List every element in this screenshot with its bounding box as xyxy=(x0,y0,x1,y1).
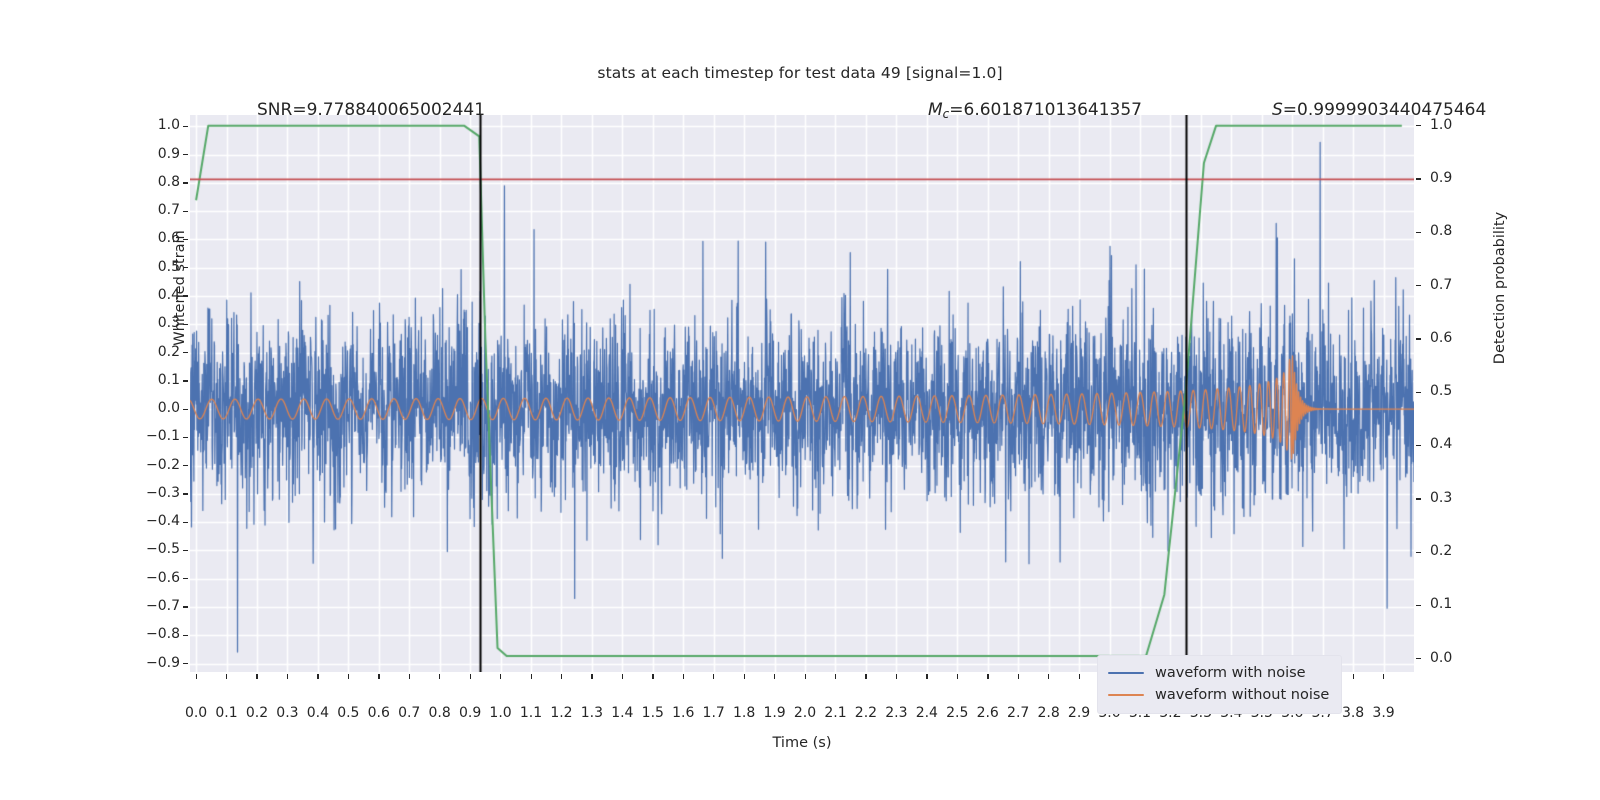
axis-tick-label: 0.2 xyxy=(1430,543,1486,559)
axis-tick-mark xyxy=(865,674,866,679)
axis-tick-mark xyxy=(896,674,897,679)
axis-tick-label: 1.0 xyxy=(124,117,180,133)
axis-tick-mark xyxy=(622,674,623,679)
axis-tick-mark xyxy=(348,674,349,679)
axis-tick-label: 0.1 xyxy=(124,372,180,388)
axis-tick-label: 0.0 xyxy=(124,400,180,416)
axis-tick-mark xyxy=(1416,658,1421,659)
axis-tick-mark xyxy=(183,635,188,636)
s-symbol: S xyxy=(1272,100,1283,120)
axis-tick-mark xyxy=(183,493,188,494)
legend-label-clean: waveform without noise xyxy=(1155,687,1329,703)
axis-tick-label: 0.7 xyxy=(1430,277,1486,293)
axis-tick-mark xyxy=(1416,125,1421,126)
axis-tick-mark xyxy=(1416,232,1421,233)
axis-tick-mark xyxy=(652,674,653,679)
axis-tick-label: 3.9 xyxy=(1354,705,1414,721)
axis-tick-label: −0.5 xyxy=(124,541,180,557)
chart-title: stats at each timestep for test data 49 … xyxy=(0,64,1600,82)
axis-tick-mark xyxy=(183,267,188,268)
axis-tick-label: 0.5 xyxy=(1430,383,1486,399)
axis-tick-mark xyxy=(183,380,188,381)
axis-tick-mark xyxy=(774,674,775,679)
axis-tick-mark xyxy=(1416,338,1421,339)
axis-tick-mark xyxy=(183,211,188,212)
legend-item-noise: waveform with noise xyxy=(1108,662,1329,684)
axis-tick-mark xyxy=(183,522,188,523)
axis-tick-mark xyxy=(183,578,188,579)
legend-label-noise: waveform with noise xyxy=(1155,665,1306,681)
axis-tick-mark xyxy=(561,674,562,679)
mc-symbol: M xyxy=(928,100,943,120)
axis-tick-mark xyxy=(183,465,188,466)
axis-tick-mark xyxy=(183,352,188,353)
axis-tick-label: 0.2 xyxy=(124,344,180,360)
axis-tick-mark xyxy=(1048,674,1049,679)
axis-tick-mark xyxy=(378,674,379,679)
axis-tick-label: 0.3 xyxy=(1430,490,1486,506)
axis-tick-label: 0.3 xyxy=(124,315,180,331)
axis-tick-mark xyxy=(183,437,188,438)
axis-tick-mark xyxy=(531,674,532,679)
legend-item-clean: waveform without noise xyxy=(1108,684,1329,706)
legend-swatch-noise xyxy=(1108,672,1144,675)
axis-tick-mark xyxy=(1383,674,1384,679)
axis-tick-mark xyxy=(683,674,684,679)
axis-tick-mark xyxy=(439,674,440,679)
axis-tick-label: 0.4 xyxy=(1430,436,1486,452)
axis-tick-mark xyxy=(183,154,188,155)
axis-tick-label: 0.8 xyxy=(124,174,180,190)
axis-tick-mark xyxy=(1079,674,1080,679)
axis-tick-mark xyxy=(957,674,958,679)
axis-tick-mark xyxy=(1416,498,1421,499)
axis-tick-label: 0.9 xyxy=(1430,170,1486,186)
axis-tick-mark xyxy=(926,674,927,679)
axis-tick-label: 0.9 xyxy=(124,146,180,162)
axis-tick-mark xyxy=(317,674,318,679)
axis-tick-label: 0.7 xyxy=(124,202,180,218)
plot-canvas xyxy=(190,115,1414,672)
axis-tick-label: 0.6 xyxy=(124,230,180,246)
axis-tick-mark xyxy=(1416,605,1421,606)
axis-tick-mark xyxy=(1416,552,1421,553)
axis-tick-label: −0.1 xyxy=(124,428,180,444)
axis-tick-mark xyxy=(196,674,197,679)
x-axis-label: Time (s) xyxy=(190,735,1414,751)
axis-tick-mark xyxy=(183,606,188,607)
axis-tick-mark xyxy=(183,239,188,240)
axis-tick-mark xyxy=(1018,674,1019,679)
axis-tick-mark xyxy=(1416,178,1421,179)
axis-tick-label: 0.1 xyxy=(1430,596,1486,612)
axis-tick-mark xyxy=(183,126,188,127)
axis-tick-mark xyxy=(591,674,592,679)
axis-tick-mark xyxy=(183,295,188,296)
axis-tick-label: 0.6 xyxy=(1430,330,1486,346)
axis-tick-mark xyxy=(226,674,227,679)
axis-tick-label: −0.3 xyxy=(124,485,180,501)
axis-tick-label: −0.8 xyxy=(124,626,180,642)
s-value: =0.9999903440475464 xyxy=(1283,100,1487,120)
annotation-chirp-mass: Mc=6.601871013641357 xyxy=(928,100,1142,121)
axis-tick-mark xyxy=(805,674,806,679)
axis-tick-label: −0.6 xyxy=(124,570,180,586)
axis-tick-label: −0.4 xyxy=(124,513,180,529)
axis-tick-label: −0.7 xyxy=(124,598,180,614)
axis-tick-mark xyxy=(287,674,288,679)
axis-tick-mark xyxy=(744,674,745,679)
axis-tick-label: 0.8 xyxy=(1430,223,1486,239)
axis-tick-label: 0.4 xyxy=(124,287,180,303)
axis-tick-mark xyxy=(1416,285,1421,286)
axis-tick-mark xyxy=(183,663,188,664)
axis-tick-mark xyxy=(183,182,188,183)
legend: waveform with noise waveform without noi… xyxy=(1097,655,1342,714)
axis-tick-mark xyxy=(1353,674,1354,679)
axis-tick-label: −0.2 xyxy=(124,457,180,473)
axis-tick-label: 0.5 xyxy=(124,259,180,275)
axis-tick-mark xyxy=(713,674,714,679)
axis-tick-mark xyxy=(987,674,988,679)
annotation-snr: SNR=9.778840065002441 xyxy=(257,100,485,120)
axis-tick-mark xyxy=(183,324,188,325)
axis-tick-mark xyxy=(409,674,410,679)
figure-root: stats at each timestep for test data 49 … xyxy=(0,0,1600,800)
axis-tick-mark xyxy=(183,409,188,410)
annotation-score: S=0.9999903440475464 xyxy=(1272,100,1486,120)
y-axis-label-right: Detection probability xyxy=(1492,138,1508,438)
mc-value: =6.601871013641357 xyxy=(949,100,1142,120)
axis-tick-mark xyxy=(1416,392,1421,393)
axis-tick-label: 0.0 xyxy=(1430,650,1486,666)
axis-tick-label: −0.9 xyxy=(124,655,180,671)
plot-area xyxy=(190,115,1414,672)
axis-tick-mark xyxy=(1416,445,1421,446)
axis-tick-mark xyxy=(256,674,257,679)
axis-tick-mark xyxy=(500,674,501,679)
legend-swatch-clean xyxy=(1108,694,1144,697)
axis-tick-mark xyxy=(835,674,836,679)
axis-tick-mark xyxy=(470,674,471,679)
axis-tick-mark xyxy=(183,550,188,551)
